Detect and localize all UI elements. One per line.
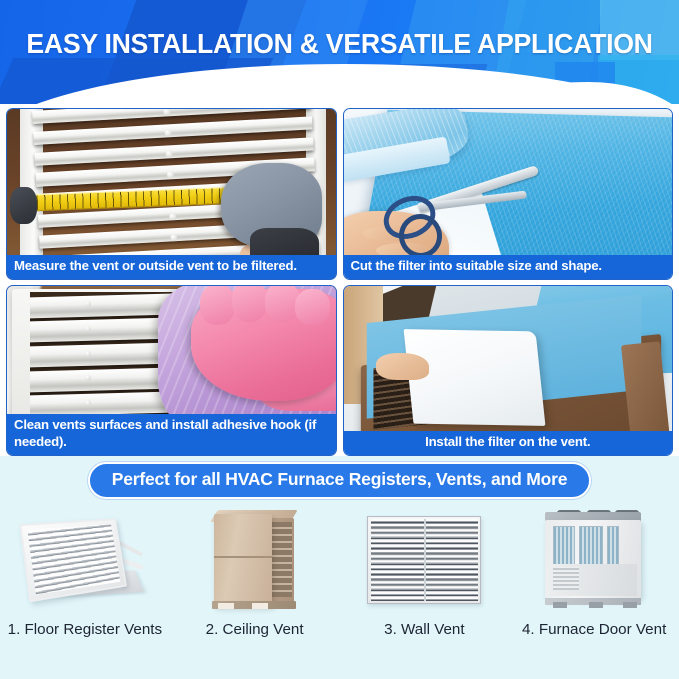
- unit-foot-left: [218, 603, 234, 609]
- hand: [376, 353, 429, 380]
- step-caption-cut: Cut the filter into suitable size and sh…: [344, 255, 673, 279]
- wall-grille: [367, 516, 481, 604]
- glove-finger-4: [295, 289, 330, 325]
- step-caption-measure: Measure the vent or outside vent to be f…: [7, 255, 336, 279]
- glove-finger-2: [232, 286, 267, 323]
- product-floor-register: 1. Floor Register Vents: [0, 506, 170, 679]
- grille-center-divider: [424, 519, 426, 602]
- unit-panel-seam: [214, 556, 272, 558]
- step-panel-install: Install the filter on the vent.: [343, 285, 674, 457]
- step-image-cut: [344, 109, 673, 279]
- product-label-wall-vent: 3. Wall Vent: [384, 621, 464, 638]
- unit-front-panel: [214, 514, 272, 606]
- glove-finger-1: [200, 286, 235, 325]
- unit-leg-right: [623, 602, 637, 608]
- pink-rubber-glove: [191, 289, 336, 401]
- product-image-wall-vent: [349, 506, 499, 616]
- installation-steps-grid: Measure the vent or outside vent to be f…: [0, 104, 679, 456]
- product-label-floor-register: 1. Floor Register Vents: [8, 621, 162, 638]
- step-panel-measure: Measure the vent or outside vent to be f…: [6, 108, 337, 280]
- compatible-products-row: 1. Floor Register Vents 2. Ceiling Vent …: [0, 506, 679, 679]
- unit-leg-center: [589, 602, 603, 608]
- product-label-ceiling-vent: 2. Ceiling Vent: [206, 621, 304, 638]
- product-image-ceiling-vent: [180, 506, 330, 616]
- step-image-measure: [7, 109, 336, 279]
- unit-side-grille: [270, 518, 294, 606]
- step-image-install: [344, 286, 673, 456]
- compatibility-banner-row: Perfect for all HVAC Furnace Registers, …: [0, 462, 679, 499]
- product-furnace-door: 4. Furnace Door Vent: [509, 506, 679, 679]
- step-panel-clean: Clean vents surfaces and install adhesiv…: [6, 285, 337, 457]
- unit-service-panel: [549, 564, 637, 596]
- product-label-furnace-door: 4. Furnace Door Vent: [522, 621, 666, 638]
- unit-foot-right: [252, 603, 268, 609]
- product-image-floor-register: [10, 506, 160, 616]
- step-caption-clean: Clean vents surfaces and install adhesiv…: [7, 414, 336, 455]
- header-banner: EASY INSTALLATION & VERSATILE APPLICATIO…: [0, 0, 679, 104]
- product-image-furnace-door: [519, 506, 669, 616]
- gloved-hand-left: [10, 187, 36, 224]
- product-wall-vent: 3. Wall Vent: [340, 506, 510, 679]
- step-caption-install: Install the filter on the vent.: [344, 431, 673, 455]
- page-title: EASY INSTALLATION & VERSATILE APPLICATIO…: [10, 28, 669, 60]
- unit-leg-left: [553, 602, 567, 608]
- product-ceiling-vent: 2. Ceiling Vent: [170, 506, 340, 679]
- compatibility-banner: Perfect for all HVAC Furnace Registers, …: [88, 462, 591, 499]
- step-panel-cut: Cut the filter into suitable size and sh…: [343, 108, 674, 280]
